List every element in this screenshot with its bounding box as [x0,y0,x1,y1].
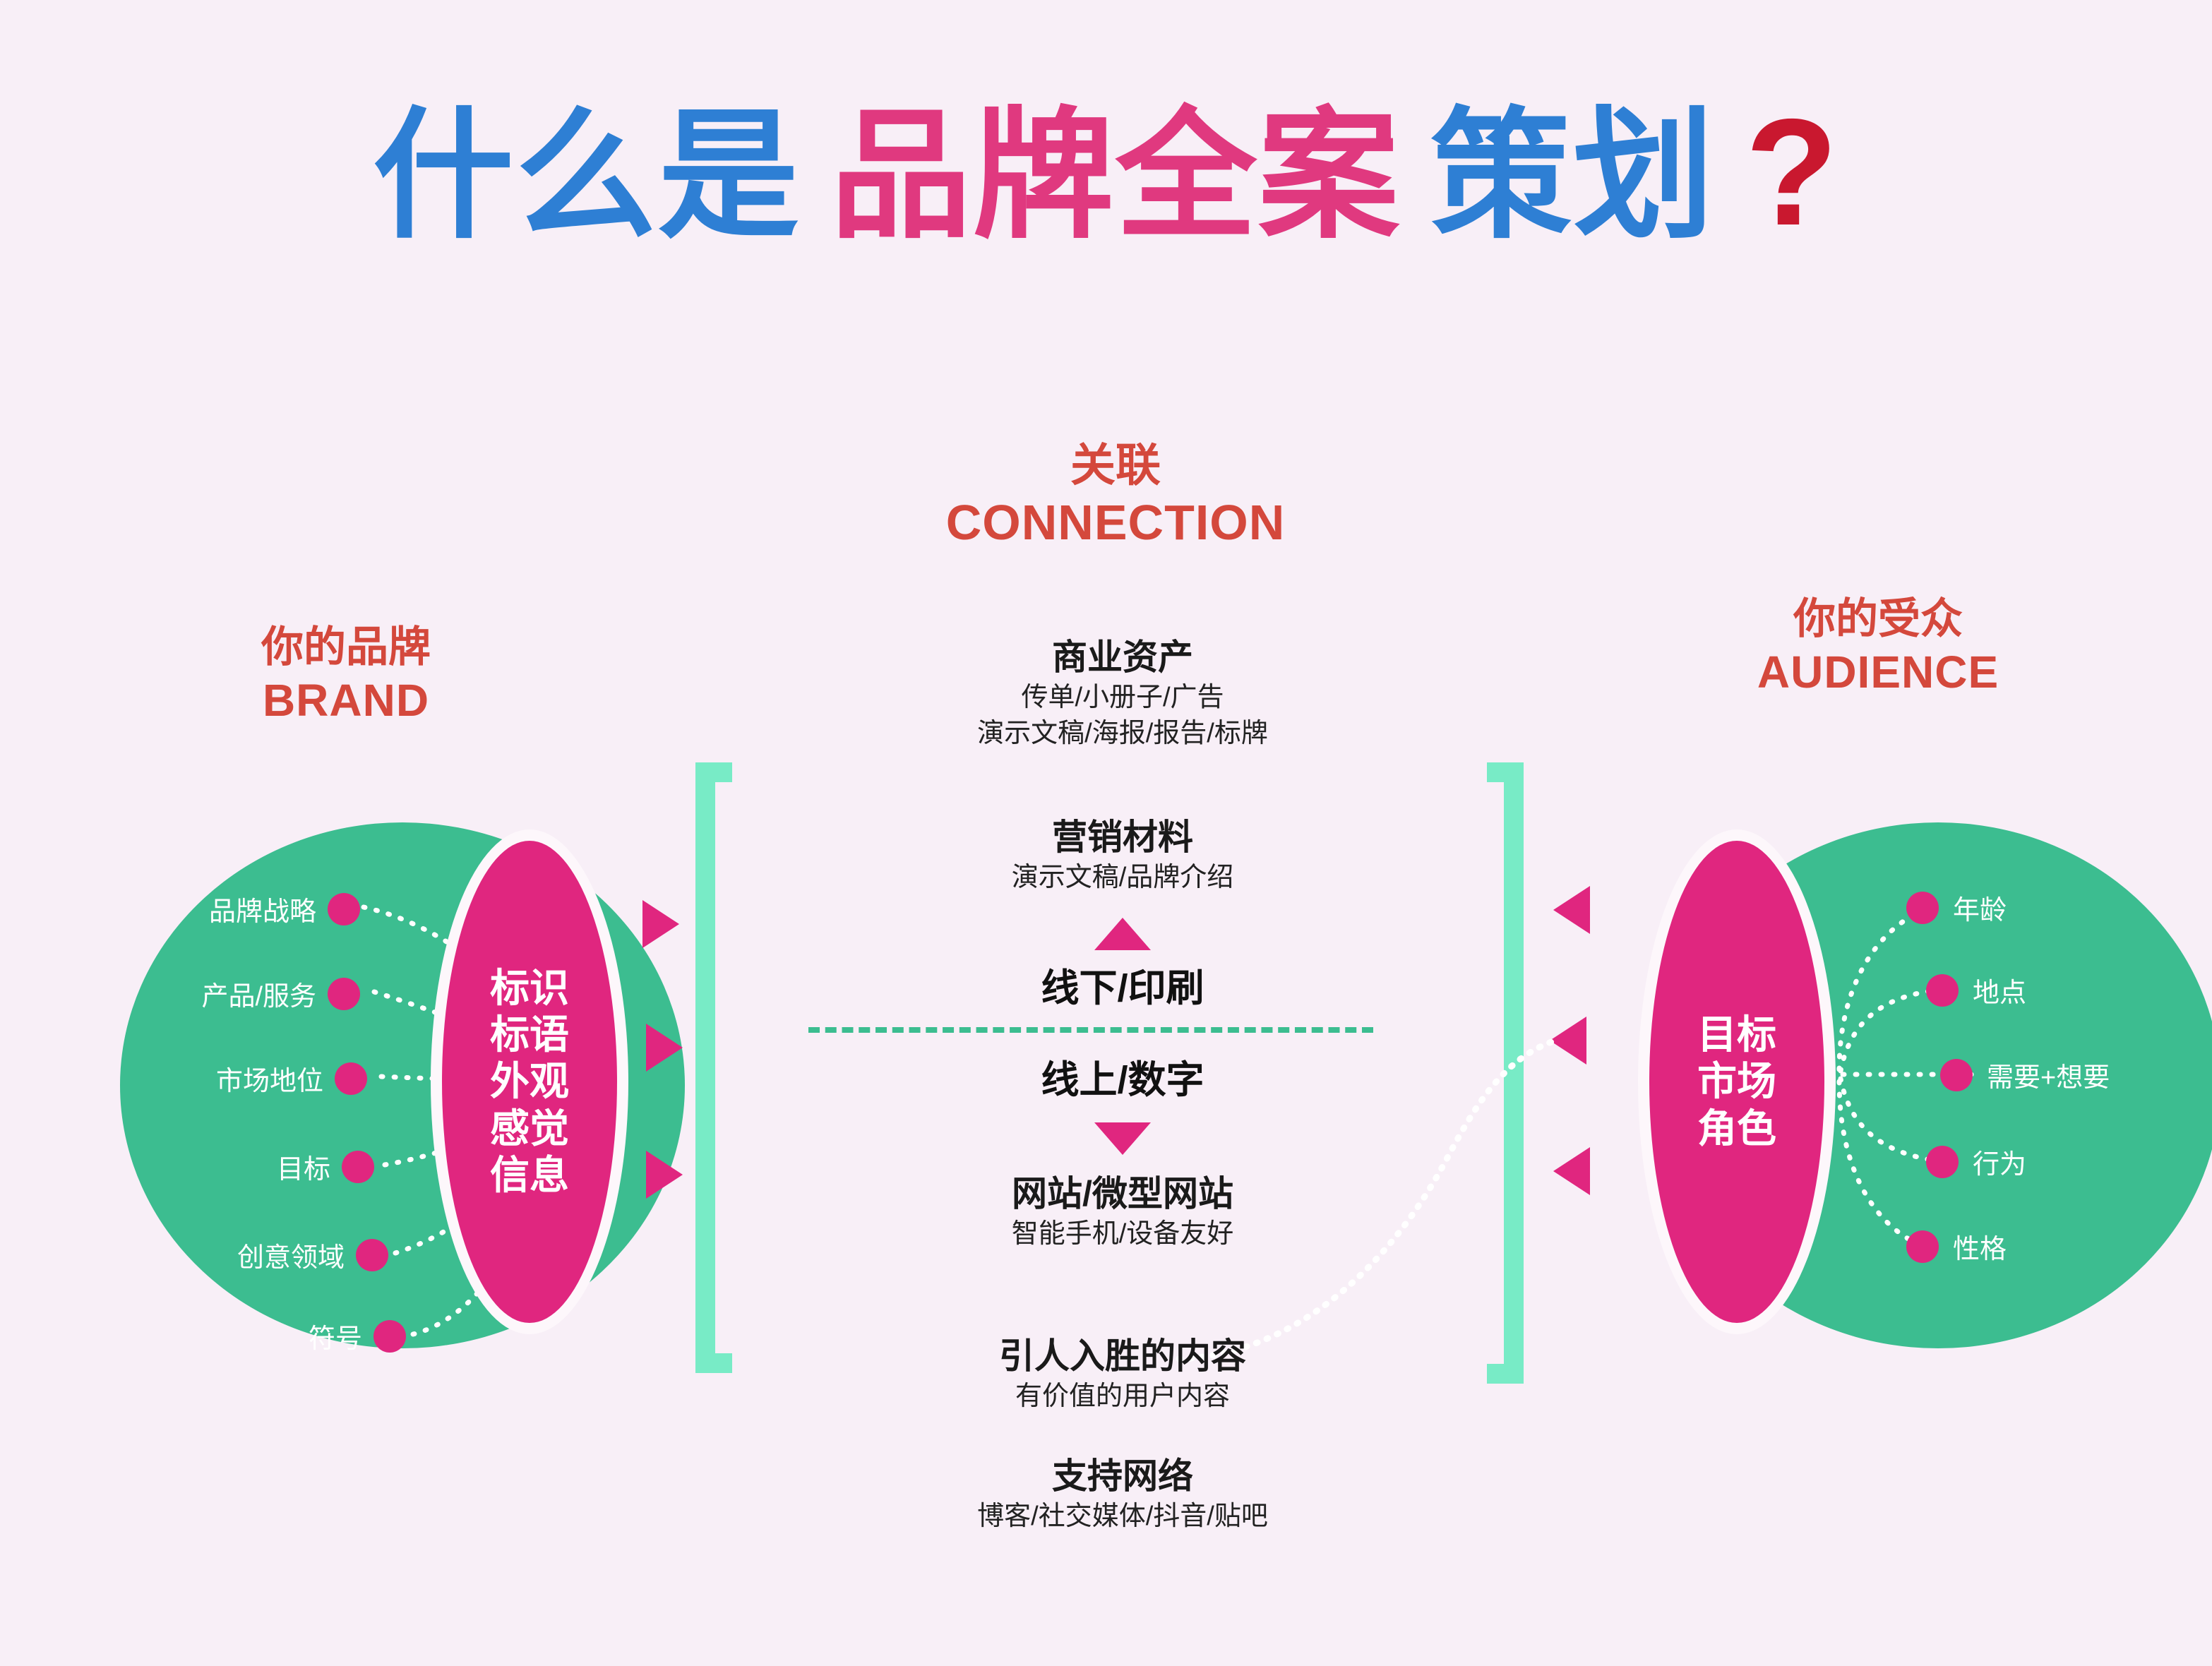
audience-item-3-dot [1926,1146,1959,1178]
mode-online-label: 线上/数字 [770,1048,1476,1104]
brand-item-5-dot [373,1320,406,1353]
brand-item-1: 产品/服务 [148,974,360,1013]
audience-core-line-0: 目标 [1697,1012,1776,1058]
brand-item-5-label: 符号 [309,1317,362,1355]
connection-block-1: 营销材料 演示文稿/品牌介绍 [770,815,1476,896]
brand-item-2-dot [335,1062,367,1095]
brand-item-0-dot [328,893,360,925]
audience-core-line-2: 角色 [1697,1105,1776,1152]
offline-online-divider [808,1027,1373,1033]
brand-arrow-icon-0 [642,900,679,948]
connection-block-1-title: 营销材料 [770,815,1476,860]
connection-block-1-sub1: 演示文稿/品牌介绍 [770,860,1476,896]
audience-item-0-dot [1906,892,1939,924]
audience-item-1: 地点 [1926,971,2026,1009]
audience-item-4: 性格 [1906,1227,2007,1266]
audience-item-4-label: 性格 [1953,1227,2007,1266]
audience-item-0-label: 年龄 [1953,888,2007,927]
audience-arrow-icon-2 [1553,1147,1590,1195]
brand-item-5: 符号 [212,1317,406,1355]
audience-item-2-dot [1940,1059,1973,1091]
connection-block-0-sub1: 传单/小册子/广告 [770,680,1476,716]
infographic-canvas: 什么是品牌全案策划? 你的品牌 BRAND 你的受众 AUDIENCE 关联 C… [0,0,2212,1666]
brand-item-3-label: 目标 [277,1147,330,1186]
audience-item-2: 需要+想要 [1940,1055,2110,1094]
audience-arrow-icon-0 [1553,886,1590,934]
offline-arrow-up-icon [1094,918,1151,950]
connection-block-3-sub1: 有价值的用户内容 [770,1379,1476,1415]
connection-block-3-title: 引人入胜的内容 [770,1334,1476,1379]
brand-item-4: 创意领域 [177,1235,388,1274]
audience-item-1-label: 地点 [1973,971,2026,1009]
title-part-3: 策划 [1430,97,1716,255]
brand-core-ellipse: 标识 标语 外观 感觉 信息 [431,829,628,1334]
connection-heading: 关联 CONNECTION [798,438,1433,553]
brand-item-2-label: 市场地位 [216,1059,323,1098]
audience-item-1-dot [1926,974,1959,1007]
brand-heading: 你的品牌 BRAND [127,621,565,728]
brand-core-line-3: 感觉 [490,1105,569,1152]
audience-item-3: 行为 [1926,1142,2026,1181]
brand-item-2: 市场地位 [155,1059,367,1098]
connection-block-2-sub1: 智能手机/设备友好 [770,1216,1476,1252]
brand-item-3: 目标 [169,1147,374,1186]
audience-heading: 你的受众 AUDIENCE [1631,593,2125,700]
brand-item-0-label: 品牌战略 [209,889,316,928]
brand-arrow-icon-1 [646,1024,683,1072]
brand-core-line-1: 标语 [490,1012,569,1058]
connection-block-0: 商业资产 传单/小册子/广告 演示文稿/海报/报告/标牌 [770,635,1476,752]
brand-arrow-icon-2 [646,1151,683,1199]
brand-item-4-label: 创意领域 [237,1235,345,1274]
connection-block-0-title: 商业资产 [770,635,1476,680]
brand-core-line-4: 信息 [490,1152,569,1199]
connection-block-2: 网站/微型网站 智能手机/设备友好 [770,1172,1476,1252]
brand-item-3-dot [342,1151,374,1183]
connection-heading-en: CONNECTION [798,493,1433,553]
connection-block-4-sub1: 博客/社交媒体/抖音/贴吧 [770,1499,1476,1535]
audience-core-ellipse: 目标 市场 角色 [1638,829,1836,1334]
question-mark-icon: ? [1745,87,1839,257]
title-part-1: 什么是 [373,97,801,255]
online-arrow-down-icon [1094,1122,1151,1155]
brand-item-1-dot [328,978,360,1010]
audience-item-4-dot [1906,1230,1939,1263]
audience-core-line-1: 市场 [1697,1058,1776,1105]
brand-heading-cn: 你的品牌 [127,621,565,673]
audience-heading-en: AUDIENCE [1631,645,2125,700]
connection-block-2-title: 网站/微型网站 [770,1172,1476,1216]
brand-item-0: 品牌战略 [162,889,360,928]
audience-heading-cn: 你的受众 [1631,593,2125,645]
connection-block-3: 引人入胜的内容 有价值的用户内容 [770,1334,1476,1415]
brand-heading-en: BRAND [127,673,565,728]
title-part-2: 品牌全案 [830,97,1401,255]
audience-arrow-icon-1 [1550,1017,1586,1065]
connection-heading-cn: 关联 [798,438,1433,493]
brand-item-4-dot [356,1239,388,1271]
brand-core-line-2: 外观 [490,1058,569,1105]
audience-item-2-label: 需要+想要 [1987,1055,2110,1094]
brand-item-1-label: 产品/服务 [201,974,316,1013]
brand-core-line-0: 标识 [490,965,569,1012]
connection-block-0-sub2: 演示文稿/海报/报告/标牌 [770,716,1476,752]
page-title: 什么是品牌全案策划? [0,85,2212,259]
audience-item-3-label: 行为 [1973,1142,2026,1181]
connection-block-4: 支持网络 博客/社交媒体/抖音/贴吧 [770,1454,1476,1535]
connection-block-4-title: 支持网络 [770,1454,1476,1499]
mode-offline-label: 线下/印刷 [770,957,1476,1012]
audience-item-0: 年龄 [1906,888,2007,927]
